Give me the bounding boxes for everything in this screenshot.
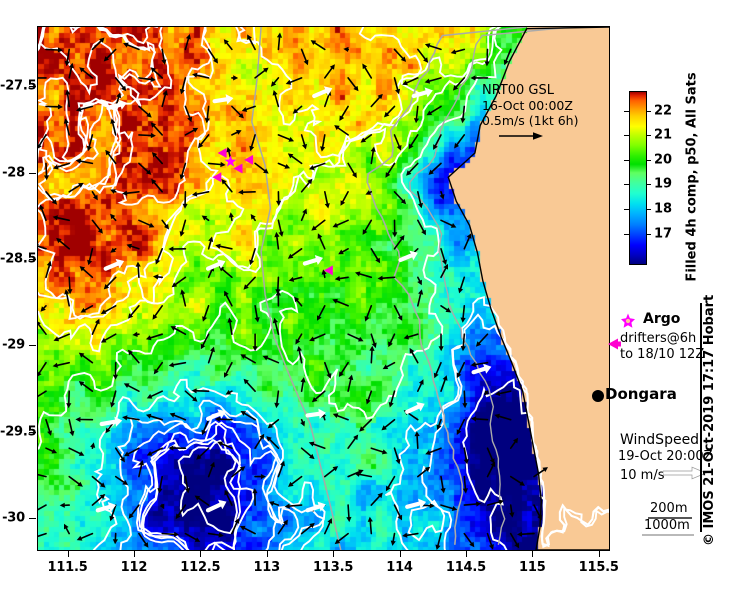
x-tick-label: 112 [121,560,148,575]
y-tick-label: -28.5 [0,252,25,267]
vector-shaft [69,477,79,484]
vector-shaft [325,363,329,374]
vector-shaft [230,322,232,334]
vector-shaft [395,135,400,146]
vector-head [277,33,282,38]
vector-shaft [162,220,166,225]
vector-shaft [139,163,148,171]
vector-shaft [58,218,70,221]
vector-shaft [457,135,464,145]
vector-head [517,532,522,537]
vector-shaft [220,419,232,420]
vector-shaft [500,391,511,393]
vector-shaft [441,220,452,225]
vector-shaft [278,163,285,166]
vector-head [369,346,374,351]
vector-head [153,274,158,279]
vector-shaft [436,363,441,374]
vector-shaft [162,534,174,535]
vector-head [297,346,302,351]
colorbar-tick-mark [646,135,651,136]
vector-shaft [418,49,425,59]
vector-shaft [408,334,417,337]
vector-shaft [395,192,403,201]
vector-head [69,431,74,437]
y-tick-label: -27.5 [0,79,25,94]
depth-1000m-label: 1000m [644,518,690,533]
vector-shaft [278,38,279,50]
vector-head [220,162,225,167]
vector-shaft [139,220,150,225]
colorbar-tick-mark [646,184,651,185]
vector-shaft [395,306,401,317]
vector-shaft [325,95,329,106]
vector-shaft [58,363,70,366]
vector-shaft [157,363,163,371]
vector-head [87,146,92,152]
vector-head [285,504,290,509]
vector-head [238,190,243,195]
ssh-contour-line [38,27,178,200]
current-source-label: NRT00 GSL [482,83,578,98]
vector-shaft [365,68,371,78]
x-tick-label: 114 [386,560,413,575]
vector-shaft [297,106,302,110]
vector-shaft [154,183,162,192]
colorbar-gradient [629,91,647,265]
vector-head [58,104,63,109]
ssh-contour-line [38,27,505,351]
vector-shaft [499,416,511,419]
vector-shaft [441,477,443,489]
y-tick-label: -30 [0,510,25,525]
vector-shaft [464,477,465,489]
vector-shaft [474,369,485,372]
vector-shaft [476,363,488,365]
vector-head [485,61,490,66]
vector-head [301,377,306,382]
vector-shaft [292,477,302,484]
vector-shaft [209,163,221,164]
vector-head [151,133,156,138]
vector-shaft [128,448,139,454]
vector-head [325,203,330,208]
vector-shaft [46,448,53,451]
vector-shaft [278,220,281,232]
vector-shaft [46,420,50,431]
x-tick-mark [599,550,600,557]
vector-head [463,488,468,493]
vector-shaft [174,415,185,420]
depth-1000m-line [642,534,694,536]
vector-shaft [464,391,465,403]
y-tick-mark [29,345,36,346]
vector-shaft [131,354,139,363]
vector-shaft [340,277,348,278]
vector-head [229,212,234,217]
vector-head [146,414,152,419]
vector-shaft [274,78,278,83]
vector-shaft [391,334,395,342]
vector-shaft [305,260,316,264]
vector-shaft [325,68,332,78]
vector-shaft [371,249,377,259]
vector-shaft [387,363,395,367]
vector-shaft [254,218,256,220]
vector-shaft [232,106,241,115]
vector-shaft [206,218,209,220]
vector-shaft [302,213,305,220]
vector-shaft [367,306,371,317]
vector-shaft [511,534,517,544]
vector-shaft [418,294,421,306]
vector-shaft [348,505,349,517]
vector-shaft [388,106,395,113]
vector-shaft [223,270,232,278]
x-tick-mark [267,550,268,557]
x-tick-label: 113 [253,560,280,575]
vector-shaft [83,384,93,391]
vector-head [382,449,388,454]
vector-shaft [511,477,521,484]
x-tick-label: 111.5 [47,560,87,575]
drifters-date-label: to 18/10 12Z [620,347,704,362]
vector-shaft [244,528,255,533]
colorbar-tick-mark [624,209,629,210]
vector-shaft [151,416,163,420]
vector-head [110,402,115,408]
vector-head [146,335,152,340]
vector-head [233,75,238,80]
vector-shaft [114,249,115,250]
vector-shaft [459,363,464,374]
vector-shaft [441,306,447,310]
vector-shaft [183,294,186,306]
vector-head [439,346,444,351]
vector-shaft [128,386,139,392]
vector-shaft [459,420,464,431]
vector-shaft [370,192,371,193]
vector-shaft [315,220,325,227]
vector-shaft [463,334,464,346]
vector-shaft [215,99,227,101]
vector-shaft [275,323,278,335]
vector-shaft [488,448,493,459]
vector-head [389,402,394,408]
vector-head [335,276,340,281]
vector-shaft [323,135,325,147]
vector-shaft [393,534,394,541]
vector-head [113,539,118,544]
vector-shaft [227,494,232,505]
vector-head [460,118,465,123]
x-tick-mark [532,550,533,557]
vector-shaft [302,420,303,422]
vector-shaft [151,334,163,338]
windspeed-legend-title: WindSpeed [620,432,699,448]
vector-shaft [131,246,139,249]
vector-head [458,288,463,294]
vector-shaft [292,249,302,256]
vector-shaft [320,238,325,249]
vector-shaft [479,334,487,343]
dongara-city-label: Dongara [605,385,677,403]
vector-head [90,442,95,448]
vector-shaft [207,106,208,118]
x-tick-label: 112.5 [180,560,220,575]
x-tick-mark [400,550,401,557]
vector-shaft [441,192,442,195]
vector-shaft [274,504,279,506]
vector-shaft [302,448,311,456]
argo-legend-label: Argo [643,311,680,327]
drifter-marker [244,155,253,165]
vector-shaft [275,95,278,107]
colorbar-tick-label: 21 [654,128,672,143]
vector-shaft [324,417,325,420]
vector-shaft [113,391,116,403]
vector-shaft [151,391,162,396]
vector-head [163,90,168,96]
vector-shaft [511,442,516,448]
vector-shaft [154,126,162,135]
vector-shaft [348,334,359,339]
vector-shaft [69,448,80,453]
vector-shaft [292,156,302,163]
vector-shaft [302,135,305,145]
vector-shaft [83,356,93,363]
vector-shaft [411,135,418,145]
vector-head [471,75,476,80]
vector-shaft [255,306,257,318]
vector-head [255,317,260,322]
vector-head [53,363,58,368]
vector-head [355,271,361,276]
current-scale-label: 0.5m/s (1kt 6h) [482,113,578,128]
x-tick-mark [134,550,135,557]
vector-shaft [348,163,354,173]
vector-shaft [522,534,534,535]
colorbar-tick-mark [624,135,629,136]
vector-shaft [92,323,97,334]
vector-shaft [476,419,488,420]
vector-shaft [155,306,162,316]
vector-head [249,146,254,152]
vector-shaft [417,436,418,448]
colorbar-tick-label: 22 [654,103,672,118]
vector-head [180,289,185,294]
vector-shaft [342,363,349,373]
y-tick-mark [29,173,36,174]
vector-shaft [302,49,306,60]
vector-shaft [412,352,418,362]
vector-head [396,459,401,465]
vector-shaft [38,391,46,397]
vector-shaft [232,132,237,135]
vector-head [53,215,58,220]
vector-head [494,414,500,419]
vector-shaft [81,161,93,163]
vector-head [273,318,278,324]
vector-shaft [185,534,196,540]
vector-shaft [298,334,302,340]
vector-shaft [337,220,348,225]
colorbar-tick-mark [624,234,629,235]
vector-head [418,289,423,294]
vector-shaft [488,466,493,477]
vector-shaft [209,534,219,535]
vector-shaft [395,78,398,90]
vector-shaft [162,95,165,107]
ocean-current-map-figure: 19-Oct-2019 20Z NRT00 GSL 16-Oct 00:00Z … [0,0,739,592]
vector-shaft [205,306,209,317]
vector-shaft [395,448,399,459]
vector-head [418,203,423,209]
vector-head [461,318,466,323]
current-date-label: 16-Oct 00:00Z [482,98,578,113]
vector-head [114,417,122,427]
vector-shaft [46,163,47,175]
vector-shaft [69,277,70,289]
vector-shaft [182,220,185,232]
colorbar-tick-mark [646,209,651,210]
vector-shaft [348,380,351,392]
vector-shaft [363,420,372,428]
vector-head [451,49,457,54]
vector-shaft [85,306,93,310]
vector-shaft [371,334,374,343]
vector-shaft [138,267,139,278]
vector-shaft [278,524,285,534]
drifter-marker [218,148,227,158]
vector-shaft [68,95,70,107]
vector-shaft [488,534,492,545]
vector-shaft [360,274,372,277]
vector-head [75,417,80,422]
ssh-contour-line [463,380,609,550]
vector-shaft [464,238,469,249]
windspeed-date-label: 19-Oct 20:00Z [618,449,713,464]
vector-shaft [290,505,302,506]
vector-head [452,506,458,511]
vector-head [404,335,410,340]
colorbar-tick-mark [646,160,651,161]
vector-head [180,231,185,237]
vector-head [218,533,223,538]
vector-shaft [414,92,426,96]
vector-shaft [343,192,348,202]
vector-head [320,146,325,151]
vector-head [391,541,396,546]
vector-shaft [395,239,402,249]
vector-shaft [319,306,325,317]
vector-shaft [297,301,301,306]
vector-shaft [255,163,265,170]
vector-shaft [461,277,465,288]
vector-head [302,144,307,150]
vector-shaft [230,391,232,392]
x-tick-mark [466,550,467,557]
colorbar-title: Filled 4h comp, p50, All Sats [685,72,700,281]
vector-shaft [417,106,418,118]
vector-head [169,362,174,367]
vector-shaft [200,448,209,456]
vector-shaft [199,498,209,505]
vector-shaft [395,49,403,58]
x-tick-mark [68,550,69,557]
vector-shaft [441,505,453,508]
vector-shaft [46,49,58,50]
vector-shaft [247,277,255,286]
colorbar-tick-label: 18 [654,201,672,216]
vector-head [476,501,481,506]
vector-head [226,147,231,153]
vector-shaft [325,192,328,204]
vector-shaft [385,420,394,428]
vector-shaft [302,382,304,391]
vector-shaft [208,505,220,511]
vector-head [273,90,278,96]
vector-shaft [67,49,69,61]
vector-shaft [38,505,46,511]
vector-head [226,94,234,104]
vector-shaft [383,277,395,278]
colorbar-tick-label: 17 [654,226,672,241]
vector-shaft [339,534,349,541]
vector-shaft [342,106,348,116]
right-arrow-icon [499,130,545,142]
vector-shaft [90,249,93,261]
vector-shaft [175,329,186,335]
vector-head [368,517,373,522]
vector-shaft [365,220,371,230]
vector-shaft [371,351,372,363]
vector-head [378,276,383,281]
x-tick-label: 113.5 [313,560,353,575]
vector-head [440,194,445,200]
ssh-contour-line [38,27,299,205]
vector-shaft [160,477,162,489]
argo-marker-icon [620,313,636,329]
vector-head [462,403,467,408]
vector-shaft [38,534,46,538]
colorbar-tick-mark [624,184,629,185]
vector-shaft [432,163,441,171]
vector-head [274,403,279,408]
vector-head [471,362,476,367]
vector-head [279,231,284,237]
vector-shaft [155,156,162,164]
vector-shaft [102,422,116,424]
vector-head [136,262,141,267]
vector-shaft [407,504,419,507]
vector-shaft [176,277,186,284]
vector-head [161,59,166,64]
vector-shaft [371,448,382,452]
vector-shaft [185,130,193,135]
ssh-contour-line [38,27,160,93]
vector-head [168,446,173,451]
vector-head [425,43,431,48]
vector-head [392,232,397,237]
vector-shaft [408,413,418,420]
vector-shaft [463,306,464,318]
vector-head [87,260,92,266]
vector-head [47,430,52,436]
vector-shaft [371,98,379,107]
vector-shaft [162,49,164,59]
vector-shaft [360,474,372,476]
